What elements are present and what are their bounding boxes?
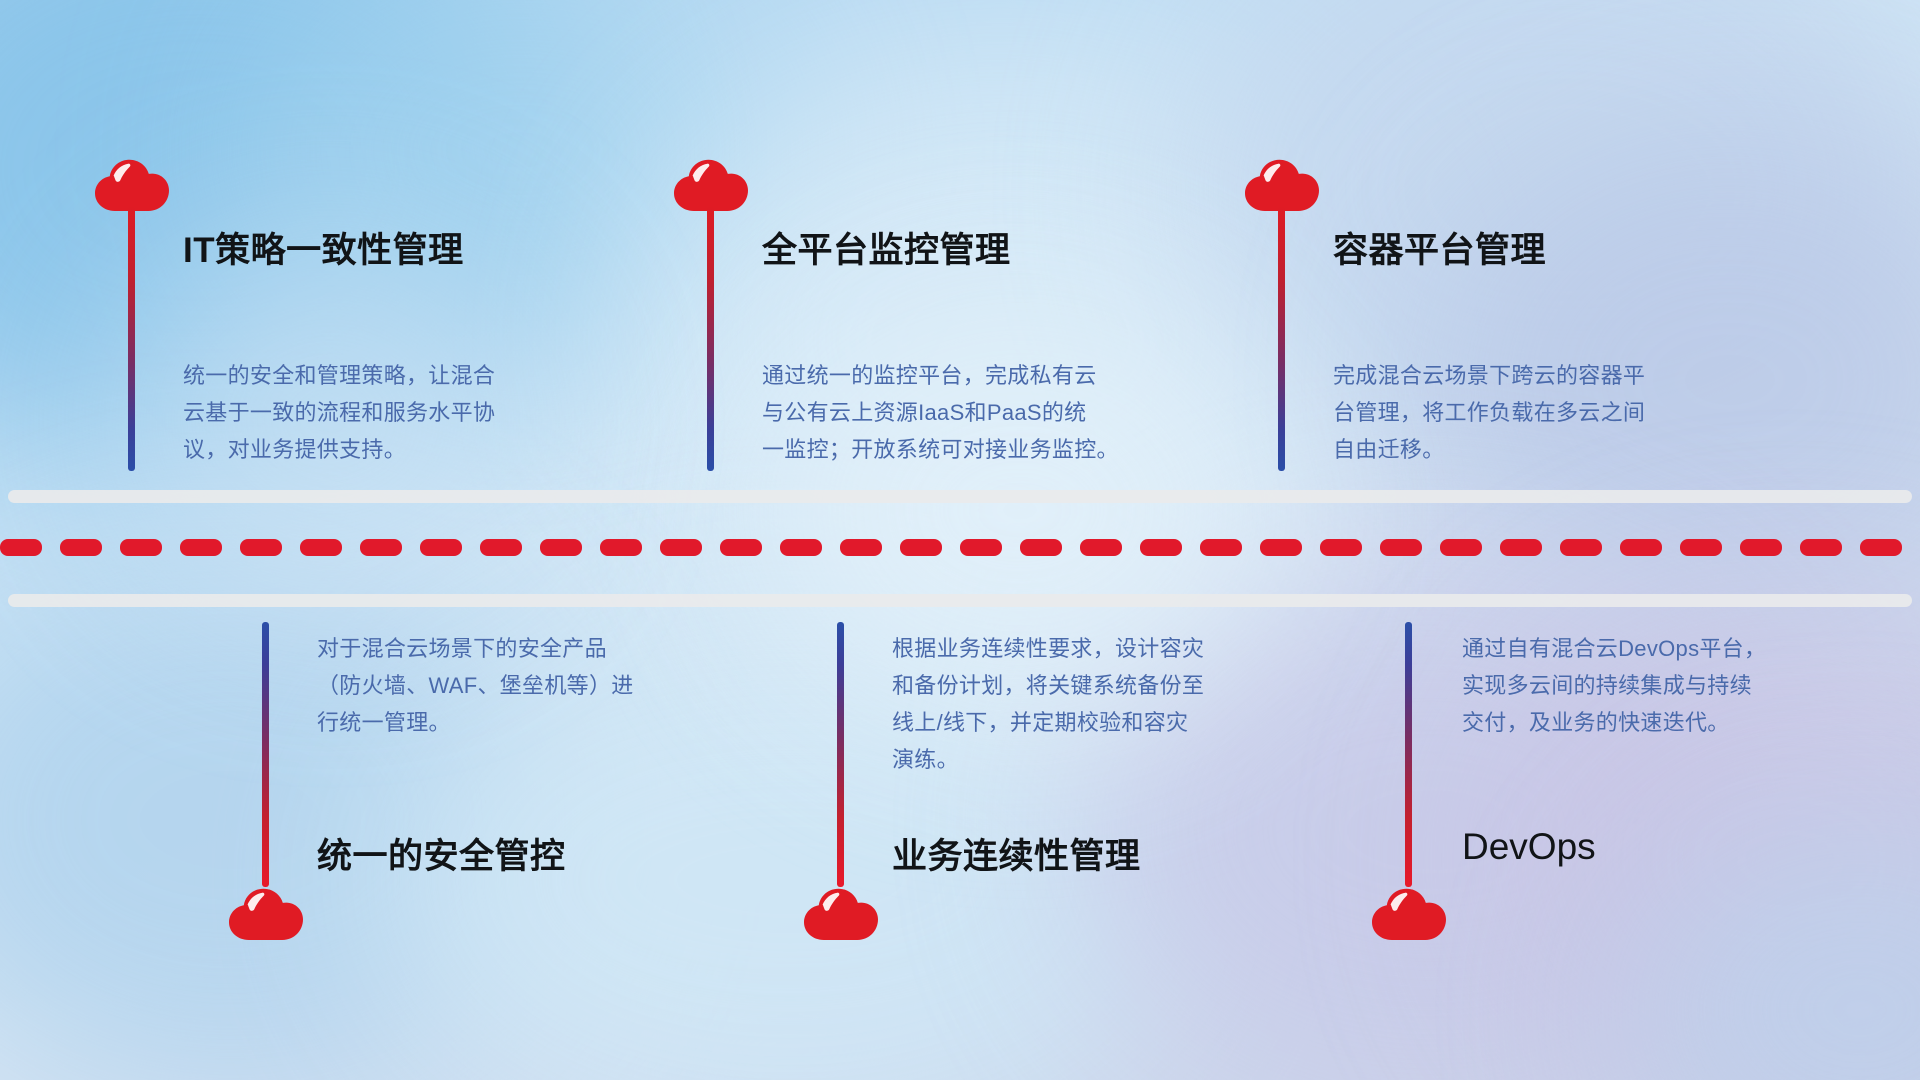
card-body: 对于混合云场景下的安全产品 （防火墙、WAF、堡垒机等）进 行统一管理。 [317, 630, 757, 741]
road-dash [420, 539, 462, 556]
road-dash [960, 539, 1002, 556]
road-dash [300, 539, 342, 556]
road-dash [1860, 539, 1902, 556]
road-dash [1800, 539, 1842, 556]
road-dash [120, 539, 162, 556]
road-dash [1320, 539, 1362, 556]
road-dash [1500, 539, 1542, 556]
pin-stem [837, 622, 844, 887]
cloud-icon [1370, 887, 1448, 943]
card-body: 通过统一的监控平台，完成私有云 与公有云上资源IaaS和PaaS的统 一监控；开… [762, 357, 1232, 468]
road-dash [180, 539, 222, 556]
card-body: 统一的安全和管理策略，让混合 云基于一致的流程和服务水平协 议，对业务提供支持。 [183, 357, 623, 468]
road-dash [0, 539, 42, 556]
card-title: 全平台监控管理 [762, 222, 1011, 273]
road-dash [1740, 539, 1782, 556]
road-dash [1440, 539, 1482, 556]
road-dash [240, 539, 282, 556]
road-dash [660, 539, 702, 556]
pin-stem [1278, 206, 1285, 471]
road-dash [720, 539, 762, 556]
road-dash [1380, 539, 1422, 556]
card-body: 根据业务连续性要求，设计容灾 和备份计划，将关键系统备份至 线上/线下，并定期校… [892, 630, 1342, 778]
road-dash [1620, 539, 1662, 556]
pin-stem [262, 622, 269, 887]
road-rail-top [8, 490, 1912, 503]
road-dash [1140, 539, 1182, 556]
road-dash [780, 539, 822, 556]
cloud-icon [802, 887, 880, 943]
road-dash [840, 539, 882, 556]
pin-stem [1405, 622, 1412, 887]
cloud-icon [227, 887, 305, 943]
road-dash [1020, 539, 1062, 556]
road-divider [0, 490, 1920, 610]
pin-stem [128, 206, 135, 471]
road-dash-track [0, 539, 1920, 556]
road-dash [1680, 539, 1722, 556]
card-body: 通过自有混合云DevOps平台， 实现多云间的持续集成与持续 交付，及业务的快速… [1462, 630, 1902, 741]
road-dash [1560, 539, 1602, 556]
road-dash [900, 539, 942, 556]
road-dash [1200, 539, 1242, 556]
road-dash [1260, 539, 1302, 556]
card-body: 完成混合云场景下跨云的容器平 台管理，将工作负载在多云之间 自由迁移。 [1333, 357, 1793, 468]
infographic: IT策略一致性管理 统一的安全和管理策略，让混合 云基于一致的流程和服务水平协 … [0, 0, 1920, 1080]
road-dash [600, 539, 642, 556]
road-dash [360, 539, 402, 556]
road-rail-bottom [8, 594, 1912, 607]
card-title: 业务连续性管理 [892, 828, 1141, 879]
pin-stem [707, 206, 714, 471]
road-dash [1080, 539, 1122, 556]
card-title: 统一的安全管控 [317, 828, 566, 879]
road-dash [540, 539, 582, 556]
card-title: DevOps [1462, 826, 1596, 868]
road-dash [480, 539, 522, 556]
road-dash [60, 539, 102, 556]
card-title: 容器平台管理 [1333, 222, 1546, 273]
card-title: IT策略一致性管理 [183, 222, 464, 273]
